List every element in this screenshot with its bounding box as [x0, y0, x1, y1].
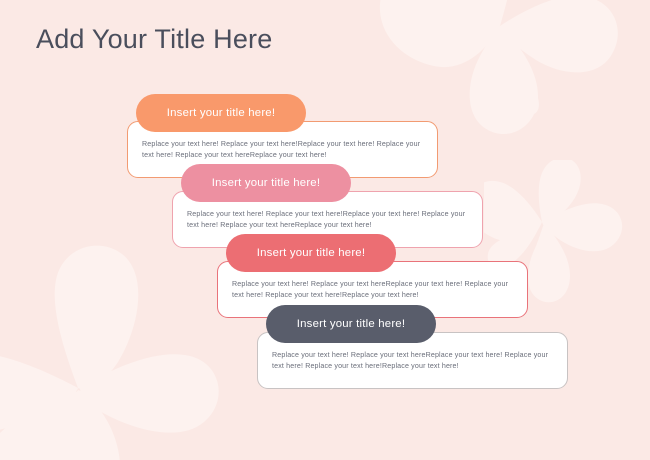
page-title: Add Your Title Here: [36, 24, 272, 55]
card-title-pill-3[interactable]: Insert your title here!: [226, 234, 396, 272]
card-title-pill-2[interactable]: Insert your title here!: [181, 164, 351, 202]
card-body-text-2: Replace your text here! Replace your tex…: [187, 209, 470, 232]
card-title-pill-1[interactable]: Insert your title here!: [136, 94, 306, 132]
flower-bottomleft-icon: [0, 236, 222, 460]
slide-canvas: Add Your Title Here Replace your text he…: [0, 0, 650, 460]
card-body-text-1: Replace your text here! Replace your tex…: [142, 139, 425, 162]
card-title-pill-4[interactable]: Insert your title here!: [266, 305, 436, 343]
card-body-text-4: Replace your text here! Replace your tex…: [272, 350, 555, 373]
card-body-text-3: Replace your text here! Replace your tex…: [232, 279, 515, 302]
